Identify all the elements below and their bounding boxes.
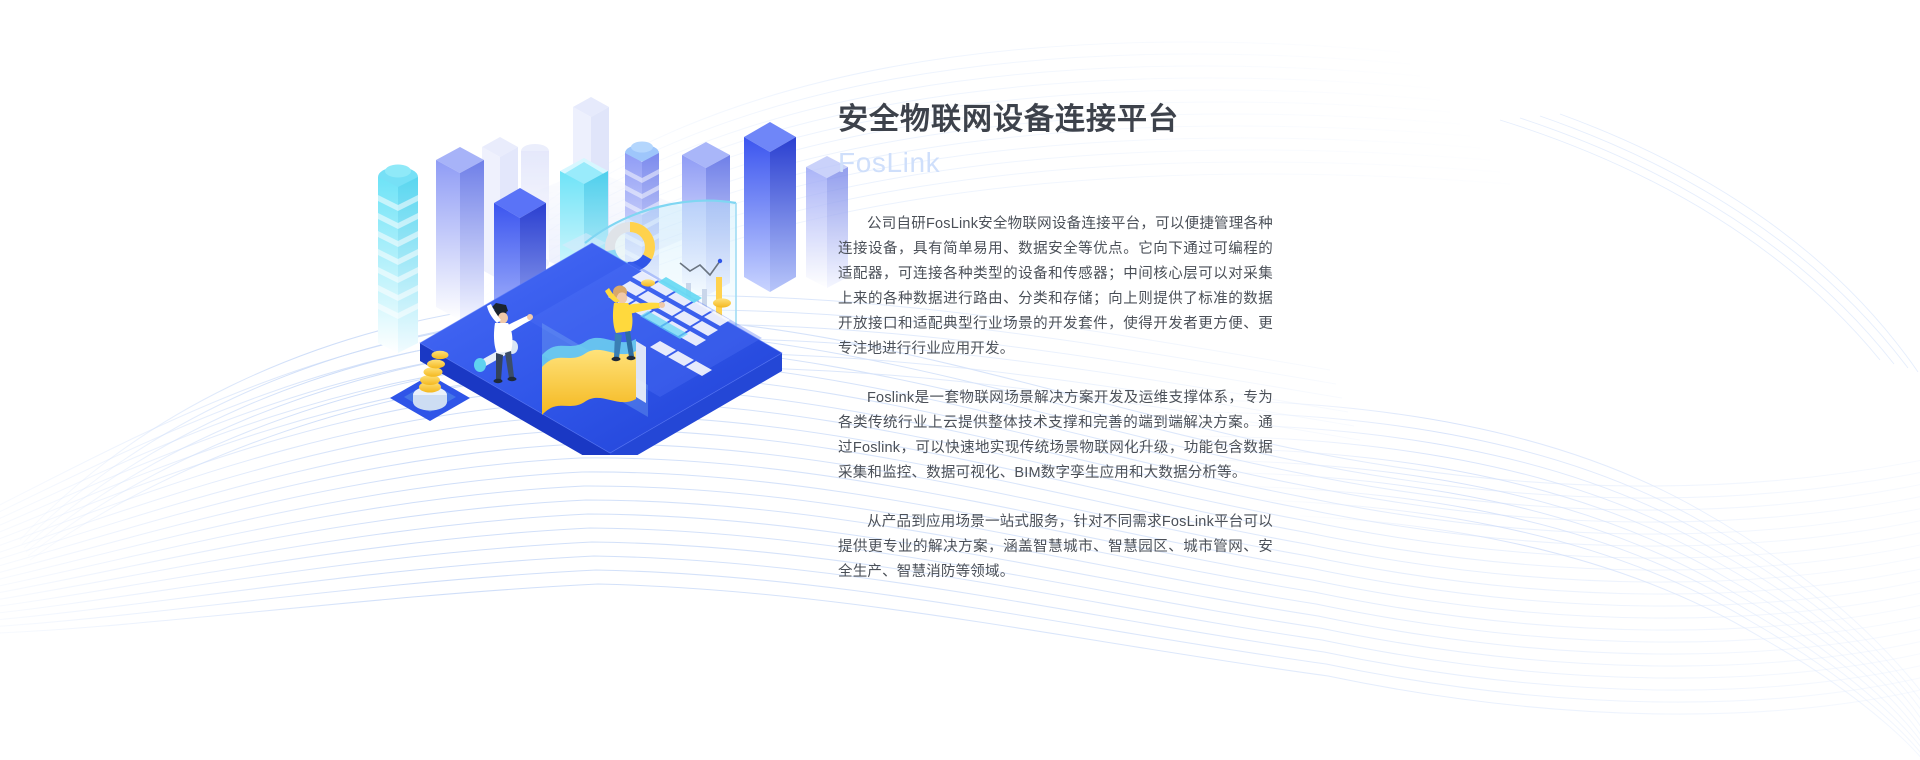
description-block: 公司自研FosLink安全物联网设备连接平台，可以便捷管理各种连接设备，具有简单… [838, 212, 1273, 585]
hero-text-block: 安全物联网设备连接平台 FosLink [838, 100, 1278, 184]
floating-coin [641, 279, 655, 286]
isometric-smart-city-illustration [330, 55, 850, 455]
page-title: 安全物联网设备连接平台 [838, 100, 1278, 139]
paragraph-2: Foslink是一套物联网场景解决方案开发及运维支撑体系，专为各类传统行业上云提… [838, 386, 1273, 486]
paragraph-3: 从产品到应用场景一站式服务，针对不同需求FosLink平台可以提供更专业的解决方… [838, 510, 1273, 585]
ringed-tower-left [378, 165, 418, 354]
token-coin [713, 298, 731, 307]
paragraph-1: 公司自研FosLink安全物联网设备连接平台，可以便捷管理各种连接设备，具有简单… [838, 212, 1273, 362]
hero-section: 安全物联网设备连接平台 FosLink 公司自研FosLink安全物联网设备连接… [0, 0, 1920, 760]
product-name-subtitle: FosLink [838, 143, 1278, 184]
